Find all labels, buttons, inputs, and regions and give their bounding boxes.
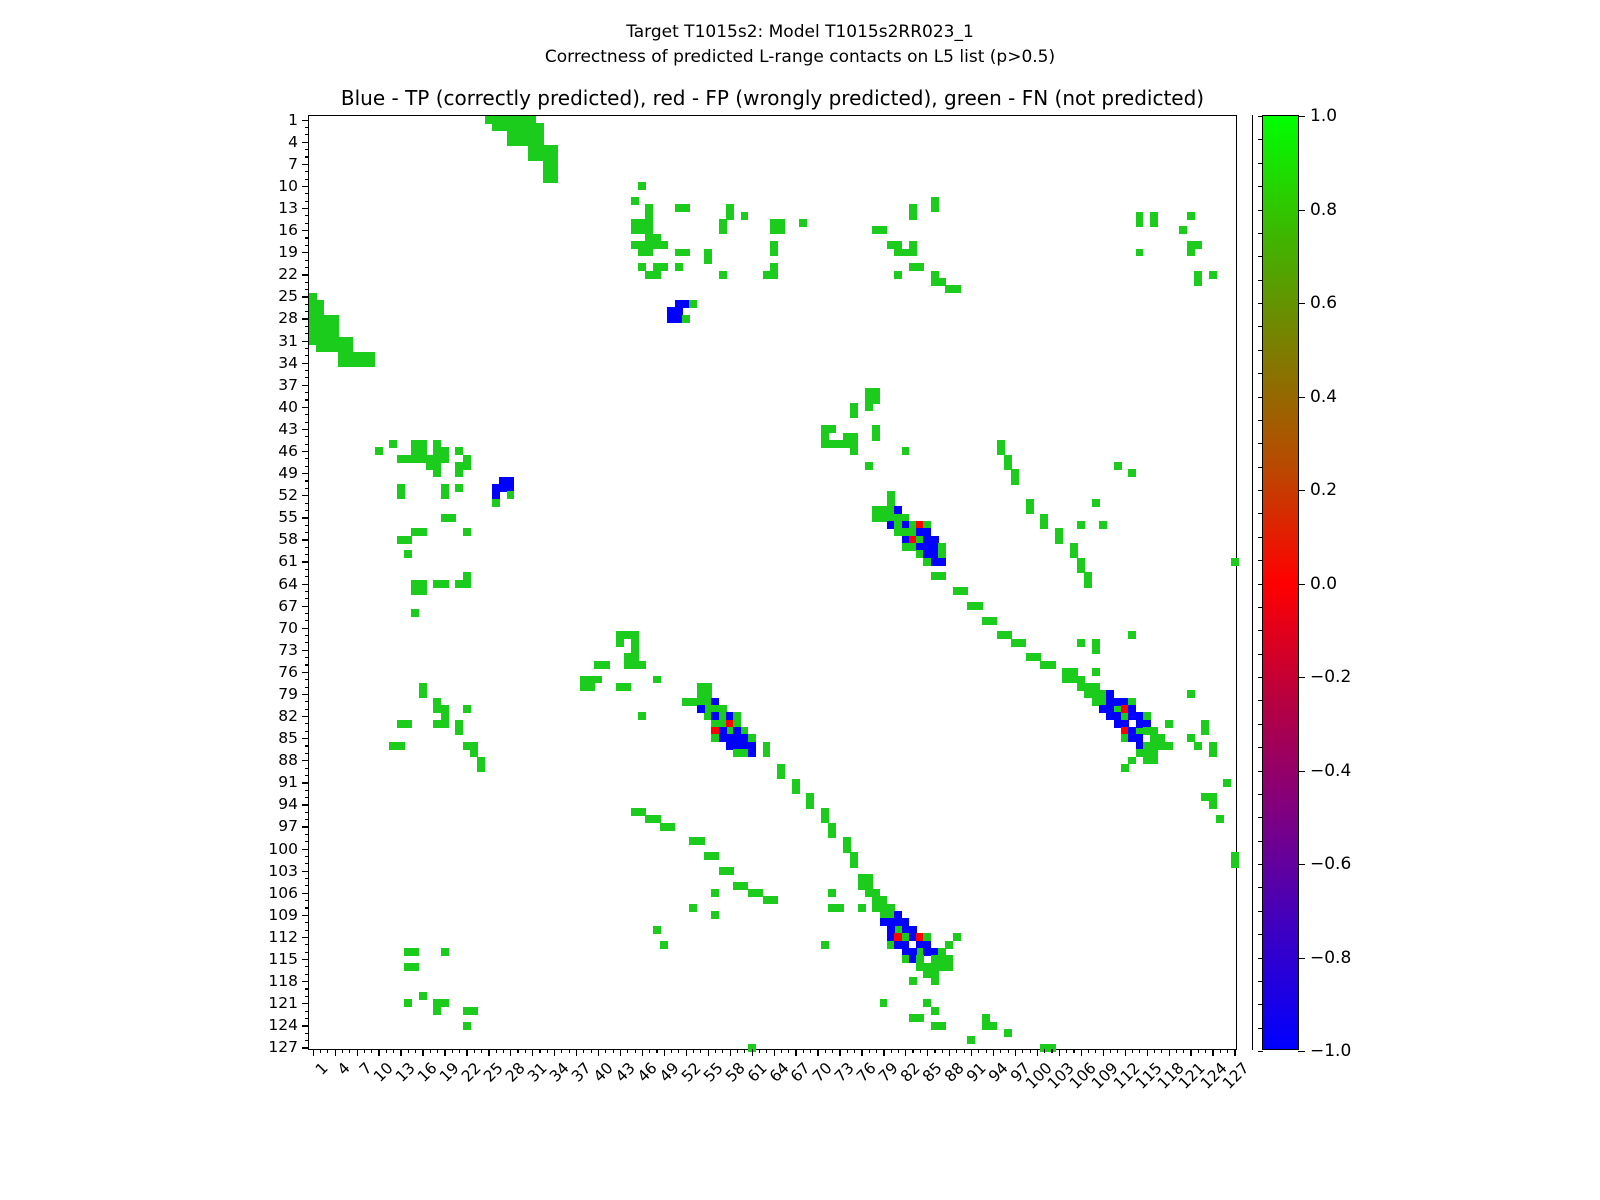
colorbar-left-spine [1252,115,1253,1050]
suptitle-line-2: Correctness of predicted L-range contact… [0,45,1600,70]
y-tick [302,164,309,165]
y-tick [305,179,309,180]
heatmap-cell-fn [1194,241,1202,249]
colorbar-tick [1298,771,1305,772]
x-tick [1110,1049,1111,1053]
y-tick [305,856,309,857]
colorbar-tick-label: 0.6 [1310,293,1337,313]
heatmap-cell-fn [675,263,683,271]
heatmap-cell-fn [945,941,953,949]
y-tick-label: 112 [268,928,298,946]
y-tick-label: 79 [278,685,298,703]
x-tick [539,1049,540,1053]
x-tick [766,1049,767,1053]
heatmap-cell-fn [638,661,646,669]
x-tick [569,1049,570,1053]
heatmap-cell-fn [872,396,880,404]
y-tick [305,1040,309,1041]
colorbar-minor-tick [1258,186,1263,187]
y-tick [305,282,309,283]
heatmap-cell-fn [550,175,558,183]
x-tick [547,1049,548,1053]
y-tick [305,547,309,548]
colorbar-tick [1298,490,1305,491]
y-tick-label: 61 [278,552,298,570]
y-tick [305,422,309,423]
heatmap-cell-fn [719,226,727,234]
y-tick [305,687,309,688]
heatmap-cell-fn [938,1022,946,1030]
y-tick [305,355,309,356]
x-tick-label: 127 [1219,1059,1253,1093]
heatmap-cell-fn [1143,757,1151,765]
heatmap-cell-fn [828,425,836,433]
y-tick [305,657,309,658]
x-tick [1190,1049,1191,1056]
colorbar-minor-tick [1258,630,1263,631]
contact-map-plot-area[interactable]: 1471013161922252831343740434649525558616… [308,115,1237,1050]
y-tick [305,480,309,481]
y-tick-label: 40 [278,398,298,416]
y-tick [305,510,309,511]
heatmap-cell-fn [1209,801,1217,809]
x-tick [671,1049,672,1053]
heatmap-cell-fn [821,941,829,949]
heatmap-cell-fn [975,602,983,610]
y-tick [305,414,309,415]
heatmap-cell-fn [1055,536,1063,544]
heatmap-cell-fn [1092,646,1100,654]
y-tick [302,606,309,607]
y-tick [302,318,309,319]
heatmap-cells [309,116,1236,1049]
y-tick [302,716,309,717]
y-tick [305,885,309,886]
heatmap-cell-fn [1077,521,1085,529]
y-tick-label: 4 [288,133,298,151]
colorbar-minor-tick [1258,724,1263,725]
x-tick [781,1049,782,1053]
heatmap-cell-fn [638,712,646,720]
heatmap-cell-tp [748,749,756,757]
heatmap-cell-fn [989,1022,997,1030]
y-tick [302,893,309,894]
x-tick [620,1049,621,1056]
x-tick [1117,1049,1118,1053]
heatmap-cell-fn [836,904,844,912]
y-tick [302,208,309,209]
colorbar-minor-tick [1258,326,1263,327]
heatmap-cell-fn [397,742,405,750]
y-tick-label: 103 [268,862,298,880]
x-tick [1095,1049,1096,1053]
heatmap-cell-fn [594,676,602,684]
colorbar-minor-tick [1258,373,1263,374]
x-tick [927,1049,928,1056]
x-tick [803,1049,804,1053]
y-tick [302,142,309,143]
y-tick [302,1047,309,1048]
heatmap-cell-fn [1150,757,1158,765]
y-tick [305,215,309,216]
x-tick [883,1049,884,1056]
x-tick [912,1049,913,1053]
heatmap-cell-fn [346,337,354,345]
heatmap-cell-fn [689,904,697,912]
heatmap-cell-fn [792,786,800,794]
colorbar-minor-tick [1258,163,1263,164]
heatmap-cell-fn [1231,558,1239,566]
x-tick [1198,1049,1199,1053]
heatmap-cell-fn [404,720,412,728]
colorbar-minor-tick [1258,443,1263,444]
heatmap-cell-fn [1019,639,1027,647]
x-tick [576,1049,577,1056]
y-tick [305,156,309,157]
heatmap-cell-fn [1209,749,1217,757]
x-tick [1154,1049,1155,1053]
x-tick [452,1049,453,1053]
y-tick-label: 13 [278,199,298,217]
x-tick [942,1049,943,1053]
heatmap-cell-fn [770,271,778,279]
y-tick [302,849,309,850]
y-tick [305,333,309,334]
heatmap-cell-fn [682,249,690,257]
y-tick [302,230,309,231]
x-tick [459,1049,460,1053]
colorbar-minor-tick [1258,233,1263,234]
heatmap-cell-fn [492,499,500,507]
heatmap-cell-fn [667,823,675,831]
heatmap-cell-fn [828,889,836,897]
heatmap-cell-fn [411,963,419,971]
x-tick [415,1049,416,1053]
x-tick [664,1049,665,1056]
heatmap-cell-fn [660,263,668,271]
colorbar-minor-tick [1258,958,1263,959]
x-tick [964,1049,965,1053]
x-tick [1059,1049,1060,1056]
heatmap-cell-fn [719,271,727,279]
y-tick [302,1003,309,1004]
x-tick [795,1049,796,1056]
y-tick [305,775,309,776]
y-tick-label: 91 [278,773,298,791]
colorbar-minor-tick [1258,420,1263,421]
colorbar-minor-tick [1258,350,1263,351]
heatmap-cell-fn [653,271,661,279]
colorbar-minor-tick [1258,303,1263,304]
x-tick [554,1049,555,1056]
heatmap-cell-fn [770,249,778,257]
heatmap-cell-fn [711,911,719,919]
y-tick [302,341,309,342]
y-tick [305,812,309,813]
y-tick [305,620,309,621]
y-tick-label: 28 [278,309,298,327]
y-tick [305,1018,309,1019]
heatmap-cell-fn [653,676,661,684]
colorbar-tick [1298,958,1305,959]
y-tick [302,561,309,562]
x-tick [335,1049,336,1056]
heatmap-cell-fn [397,491,405,499]
y-tick [305,863,309,864]
colorbar-minor-tick [1258,841,1263,842]
heatmap-cell-fn [528,153,536,161]
y-tick [305,444,309,445]
y-tick-label: 94 [278,795,298,813]
y-tick-label: 34 [278,354,298,372]
x-tick [1220,1049,1221,1053]
heatmap-cell-fn [433,469,441,477]
x-tick [1008,1049,1009,1053]
y-tick [305,458,309,459]
heatmap-cell-fn [777,226,785,234]
heatmap-cell-fn [448,514,456,522]
colorbar-tick-label: −0.6 [1310,854,1351,874]
heatmap-cell-fn [1150,219,1158,227]
y-tick [305,819,309,820]
x-tick [1000,1049,1001,1053]
y-tick-label: 88 [278,751,298,769]
y-tick [302,915,309,916]
heatmap-cell-fn [1077,639,1085,647]
heatmap-cell-tp [697,705,705,713]
x-tick [1081,1049,1082,1056]
heatmap-cell-tp [938,558,946,566]
heatmap-cell-fn [368,352,376,360]
y-tick-label: 46 [278,442,298,460]
x-tick [532,1049,533,1056]
heatmap-cell-fn [1165,720,1173,728]
colorbar-minor-tick [1258,607,1263,608]
heatmap-cell-fn [806,801,814,809]
heatmap-cell-fn [967,1036,975,1044]
heatmap-cell-fn [902,447,910,455]
colorbar-minor-tick [1258,934,1263,935]
x-tick [386,1049,387,1053]
x-tick [1015,1049,1016,1056]
heatmap-cell-fn [1121,764,1129,772]
colorbar-minor-tick [1258,864,1263,865]
heatmap-cell-fn [741,212,749,220]
colorbar-tick [1298,584,1305,585]
axes-title-legend: Blue - TP (correctly predicted), red - F… [308,86,1237,110]
y-tick [305,554,309,555]
heatmap-cell-fn [441,999,449,1007]
heatmap-cell-fn [1084,580,1092,588]
colorbar-tick [1298,116,1305,117]
colorbar-minor-tick [1258,256,1263,257]
x-tick [949,1049,950,1056]
heatmap-cell-fn [419,528,427,536]
heatmap-cell-fn [521,138,529,146]
y-tick [302,981,309,982]
x-tick [1147,1049,1148,1056]
x-tick [561,1049,562,1053]
heatmap-cell-fn [455,484,463,492]
y-tick [305,267,309,268]
heatmap-cell-fn [441,948,449,956]
y-tick-label: 70 [278,619,298,637]
x-tick [327,1049,328,1053]
y-tick [305,134,309,135]
heatmap-cell-fn [938,550,946,558]
heatmap-cell-fn [1223,779,1231,787]
x-tick [905,1049,906,1056]
colorbar-tick-label: 1.0 [1310,106,1337,126]
x-tick-label: 1 [312,1059,332,1079]
colorbar-minor-tick [1258,1004,1263,1005]
x-tick [1169,1049,1170,1056]
heatmap-cell-fn [419,587,427,595]
colorbar-tick-label: 0.0 [1310,574,1337,594]
heatmap-cell-fn [1187,690,1195,698]
y-tick [305,709,309,710]
x-tick-label: 4 [334,1059,354,1079]
heatmap-cell-fn [368,359,376,367]
y-tick [305,930,309,931]
x-tick [408,1049,409,1053]
y-tick [305,790,309,791]
heatmap-cell-fn [1201,727,1209,735]
y-tick-label: 10 [278,177,298,195]
y-tick [305,576,309,577]
y-tick-label: 118 [268,972,298,990]
colorbar-minor-tick [1258,560,1263,561]
y-tick [305,569,309,570]
x-tick [1088,1049,1089,1053]
x-tick [774,1049,775,1056]
heatmap-cell-fn [1187,249,1195,257]
heatmap-cell-fn [1026,506,1034,514]
y-tick-label: 76 [278,663,298,681]
colorbar-tick-label: −0.8 [1310,948,1351,968]
heatmap-cell-fn [989,617,997,625]
y-tick-label: 49 [278,464,298,482]
x-tick [378,1049,379,1056]
heatmap-cell-fn [711,889,719,897]
x-tick [817,1049,818,1056]
y-tick-label: 100 [268,840,298,858]
y-tick [305,907,309,908]
x-tick [656,1049,657,1053]
y-tick [305,745,309,746]
x-tick [400,1049,401,1056]
heatmap-cell-fn [1136,249,1144,257]
figure-suptitle: Target T1015s2: Model T1015s2RR023_1 Cor… [0,20,1600,70]
y-tick [305,900,309,901]
colorbar-minor-tick [1258,280,1263,281]
x-tick [708,1049,709,1056]
heatmap-cell-fn [1179,226,1187,234]
heatmap-cell-fn [1092,499,1100,507]
y-tick [305,503,309,504]
x-tick [496,1049,497,1053]
heatmap-cell-fn [1048,661,1056,669]
x-tick [971,1049,972,1056]
heatmap-cell-fn [945,955,953,963]
colorbar[interactable]: 1.00.80.60.40.20.0−0.2−0.4−0.6−0.8−1.0 [1262,115,1299,1050]
x-tick [986,1049,987,1053]
y-tick [302,937,309,938]
heatmap-cell-fn [916,263,924,271]
y-tick-label: 97 [278,817,298,835]
x-tick [686,1049,687,1056]
y-tick [302,782,309,783]
heatmap-cell-fn [433,1007,441,1015]
heatmap-cell-fn [1209,271,1217,279]
colorbar-minor-tick [1258,700,1263,701]
colorbar-minor-tick [1258,584,1263,585]
x-tick [510,1049,511,1056]
y-tick [302,804,309,805]
colorbar-tick-label: −1.0 [1310,1041,1351,1061]
y-tick [305,245,309,246]
heatmap-cell-fn [455,469,463,477]
heatmap-cell-fn [682,315,690,323]
y-tick-label: 37 [278,376,298,394]
colorbar-minor-tick [1258,116,1263,117]
heatmap-cell-fn [419,992,427,1000]
heatmap-cell-fn [931,1007,939,1015]
heatmap-cell-fn [953,933,961,941]
x-tick [342,1049,343,1053]
x-tick [488,1049,489,1056]
heatmap-cell-fn [660,941,668,949]
heatmap-cell-fn [1194,278,1202,286]
y-tick [302,120,309,121]
x-tick [525,1049,526,1053]
heatmap-cell-fn [645,249,653,257]
x-tick [422,1049,423,1056]
y-tick [305,723,309,724]
colorbar-minor-tick [1258,397,1263,398]
y-tick [302,186,309,187]
y-tick [305,642,309,643]
colorbar-minor-tick [1258,139,1263,140]
colorbar-minor-tick [1258,747,1263,748]
x-tick [598,1049,599,1056]
y-tick [305,834,309,835]
y-tick-label: 7 [288,155,298,173]
heatmap-cell-fn [470,1007,478,1015]
colorbar-tick-label: 0.4 [1310,387,1337,407]
y-tick [302,1025,309,1026]
x-tick [861,1049,862,1056]
heatmap-cell-fn [411,609,419,617]
x-tick [1037,1049,1038,1056]
heatmap-cell-fn [909,212,917,220]
x-tick [320,1049,321,1053]
y-tick [305,237,309,238]
y-tick-label: 106 [268,884,298,902]
y-tick-label: 58 [278,530,298,548]
heatmap-cell-fn [463,528,471,536]
heatmap-cell-fn [624,683,632,691]
heatmap-cell-tp [894,506,902,514]
x-tick [693,1049,694,1053]
heatmap-cell-fn [689,300,697,308]
heatmap-cell-fn [463,1022,471,1030]
heatmap-cell-fn [763,749,771,757]
x-tick [839,1049,840,1056]
heatmap-cell-fn [697,837,705,845]
heatmap-cell-fn [1216,815,1224,823]
colorbar-tick [1298,210,1305,211]
